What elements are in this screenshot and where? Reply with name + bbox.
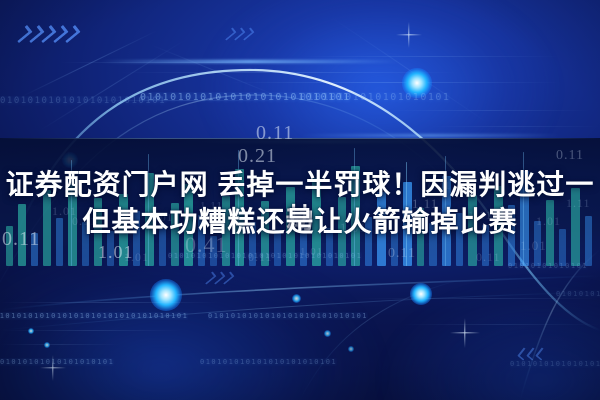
news-banner-image: 0101010101010101010101010101 01010101010… bbox=[0, 0, 600, 400]
headline-line-2: 但基本功糟糕还是让火箭输掉比赛 bbox=[0, 205, 600, 239]
